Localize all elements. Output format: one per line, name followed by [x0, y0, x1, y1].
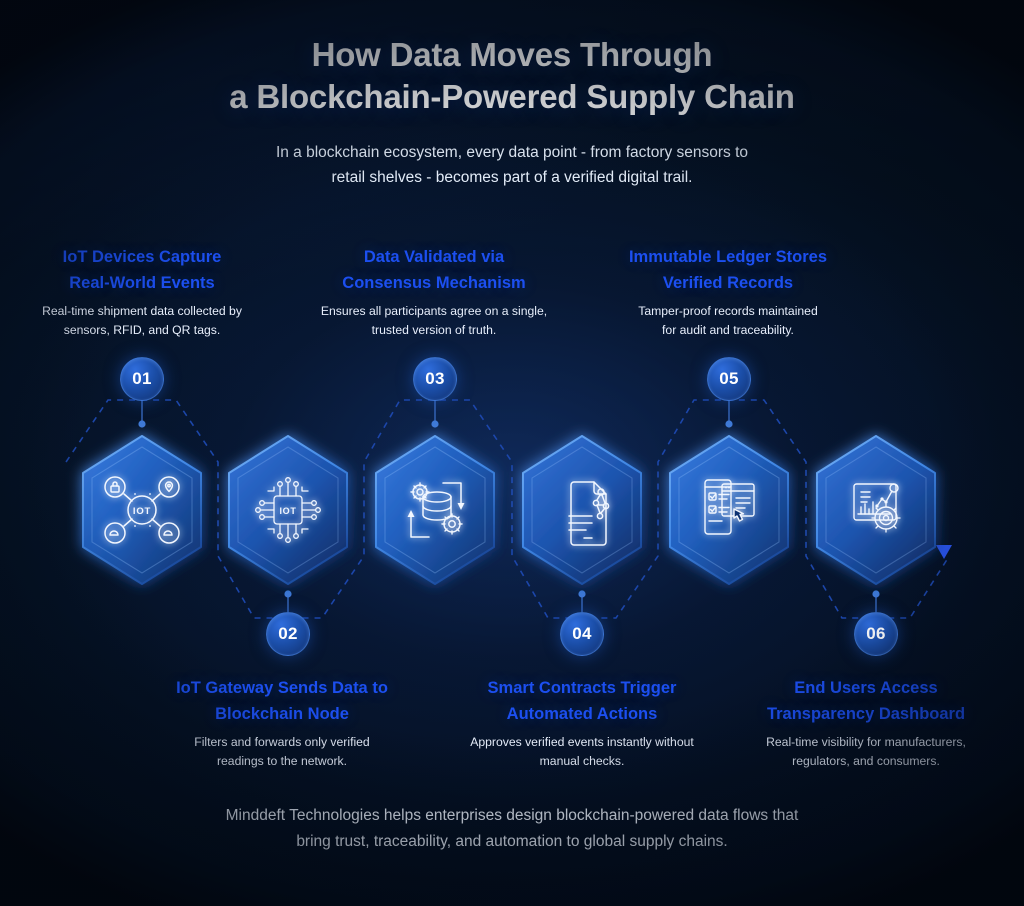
step-06-desc-line1: Real-time visibility for manufacturers, [730, 733, 1002, 752]
step-badge-02[interactable]: 02 [266, 612, 310, 656]
step-02-heading-line1: IoT Gateway Sends Data to [148, 676, 416, 702]
step-02-description: Filters and forwards only verified readi… [148, 733, 416, 771]
step-03-heading-line2: Consensus Mechanism [300, 271, 568, 297]
step-02-heading-line2: Blockchain Node [148, 702, 416, 728]
step-04-desc-line2: manual checks. [441, 752, 723, 771]
step-03-heading: Data Validated via Consensus Mechanism [300, 245, 568, 296]
hexagon-step-04[interactable] [523, 436, 641, 584]
footer-note: Minddeft Technologies helps enterprises … [0, 803, 1024, 854]
step-04-heading-line2: Automated Actions [441, 702, 723, 728]
step-label-06: End Users Access Transparency Dashboard … [730, 676, 1002, 771]
step-05-desc-line1: Tamper-proof records maintained [593, 302, 863, 321]
flow-end-arrow-icon [936, 545, 952, 559]
step-06-heading-line1: End Users Access [730, 676, 1002, 702]
step-label-03: Data Validated via Consensus Mechanism E… [300, 245, 568, 340]
step-01-heading: IoT Devices Capture Real-World Events [8, 245, 276, 296]
step-06-heading-line2: Transparency Dashboard [730, 702, 1002, 728]
step-badge-05[interactable]: 05 [707, 357, 751, 401]
infographic-canvas: How Data Moves Through a Blockchain-Powe… [0, 0, 1024, 906]
step-badge-01[interactable]: 01 [120, 357, 164, 401]
hexagon-step-02[interactable]: IOT [229, 436, 347, 584]
step-03-desc-line1: Ensures all participants agree on a sing… [300, 302, 568, 321]
step-04-heading-line1: Smart Contracts Trigger [441, 676, 723, 702]
step-05-heading-line2: Verified Records [593, 271, 863, 297]
step-03-heading-line1: Data Validated via [300, 245, 568, 271]
step-01-heading-line1: IoT Devices Capture [8, 245, 276, 271]
hexagon-step-06[interactable] [817, 436, 935, 584]
step-06-heading: End Users Access Transparency Dashboard [730, 676, 1002, 727]
step-03-desc-line2: trusted version of truth. [300, 321, 568, 340]
hexagon-step-03[interactable] [376, 436, 494, 584]
step-03-description: Ensures all participants agree on a sing… [300, 302, 568, 340]
step-04-heading: Smart Contracts Trigger Automated Action… [441, 676, 723, 727]
hexagon-step-01[interactable]: IOT [83, 436, 201, 584]
step-05-desc-line2: for audit and traceability. [593, 321, 863, 340]
footer-line-1: Minddeft Technologies helps enterprises … [0, 803, 1024, 829]
step-badge-06[interactable]: 06 [854, 612, 898, 656]
step-02-desc-line1: Filters and forwards only verified [148, 733, 416, 752]
step-01-heading-line2: Real-World Events [8, 271, 276, 297]
svg-text:IOT: IOT [133, 506, 151, 517]
step-label-04: Smart Contracts Trigger Automated Action… [441, 676, 723, 771]
svg-text:IOT: IOT [279, 506, 296, 516]
step-label-01: IoT Devices Capture Real-World Events Re… [8, 245, 276, 340]
step-06-desc-line2: regulators, and consumers. [730, 752, 1002, 771]
step-badge-03[interactable]: 03 [413, 357, 457, 401]
step-05-heading: Immutable Ledger Stores Verified Records [593, 245, 863, 296]
step-05-description: Tamper-proof records maintained for audi… [593, 302, 863, 340]
step-02-desc-line2: readings to the network. [148, 752, 416, 771]
step-badge-04[interactable]: 04 [560, 612, 604, 656]
step-01-desc-line2: sensors, RFID, and QR tags. [8, 321, 276, 340]
step-04-description: Approves verified events instantly witho… [441, 733, 723, 771]
step-label-05: Immutable Ledger Stores Verified Records… [593, 245, 863, 340]
footer-line-2: bring trust, traceability, and automatio… [0, 829, 1024, 855]
step-01-description: Real-time shipment data collected by sen… [8, 302, 276, 340]
step-label-02: IoT Gateway Sends Data to Blockchain Nod… [148, 676, 416, 771]
step-02-heading: IoT Gateway Sends Data to Blockchain Nod… [148, 676, 416, 727]
step-05-heading-line1: Immutable Ledger Stores [593, 245, 863, 271]
step-01-desc-line1: Real-time shipment data collected by [8, 302, 276, 321]
hexagon-step-05[interactable] [670, 436, 788, 584]
step-06-description: Real-time visibility for manufacturers, … [730, 733, 1002, 771]
step-04-desc-line1: Approves verified events instantly witho… [441, 733, 723, 752]
